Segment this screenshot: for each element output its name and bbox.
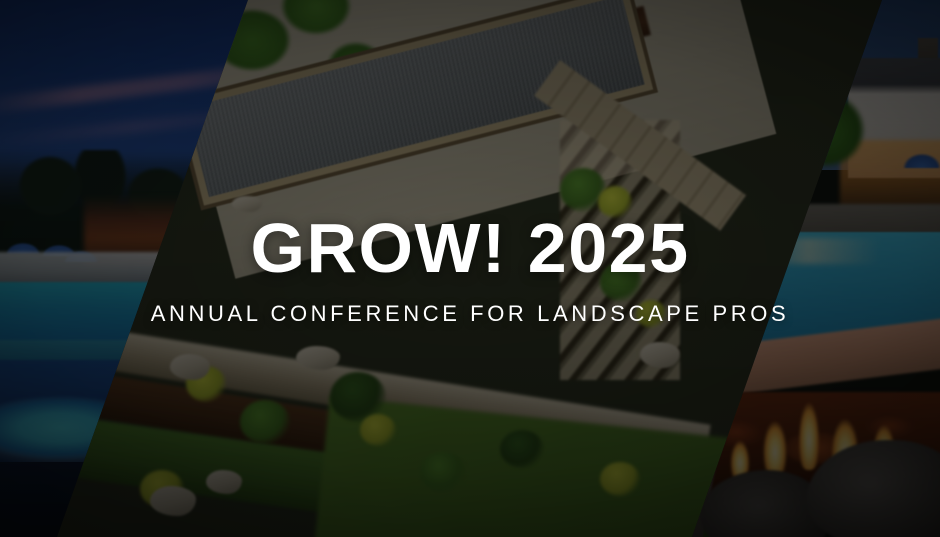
page-title: GROW! 2025	[251, 213, 690, 283]
hero-subtitle: ANNUAL CONFERENCE FOR LANDSCAPE PROS	[151, 303, 790, 325]
hero-banner: GROW! 2025 ANNUAL CONFERENCE FOR LANDSCA…	[0, 0, 940, 537]
hero-content: GROW! 2025 ANNUAL CONFERENCE FOR LANDSCA…	[0, 0, 940, 537]
